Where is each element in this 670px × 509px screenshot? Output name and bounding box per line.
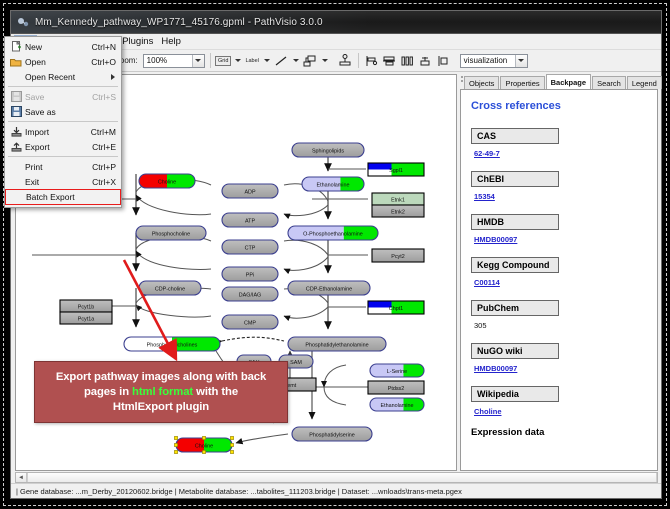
toolbar-separator-2 <box>358 53 359 68</box>
line-dropdown-icon[interactable] <box>292 53 300 68</box>
file-menu-item-save-as[interactable]: Save as <box>5 104 121 119</box>
metabolite-node[interactable]: Ethanolamine <box>302 177 364 191</box>
node-label: PPi <box>246 273 254 279</box>
save-as-icon <box>7 105 25 118</box>
file-menu-item-export[interactable]: ExportCtrl+E <box>5 139 121 154</box>
tab-properties[interactable]: Properties <box>500 76 544 89</box>
xref-value: 305 <box>474 321 657 330</box>
shape-tool-button[interactable] <box>303 53 318 68</box>
callout-line2a: pages in <box>84 386 132 398</box>
metabolite-node[interactable]: L-Serine <box>370 364 424 377</box>
zoom-value: 100% <box>147 56 167 65</box>
xref-group: NuGO wikiHMDB00097 <box>471 341 657 373</box>
node-label: L-Serine <box>387 369 407 375</box>
same-width-button[interactable] <box>418 53 433 68</box>
side-panel: Objects Properties Backpage Search Legen… <box>460 74 658 471</box>
title-bar: Mm_Kennedy_pathway_WP1771_45176.gpml - P… <box>11 11 661 34</box>
label-tool-button[interactable]: Label <box>245 53 260 68</box>
file-menu-label: Export <box>25 142 92 152</box>
metabolite-node[interactable]: ADP <box>222 184 278 198</box>
gene-node[interactable]: Pcyt1a <box>60 312 112 324</box>
xref-link[interactable]: 62-49-7 <box>474 149 500 158</box>
node-label: Phosphocholine <box>152 232 190 238</box>
callout-line3: HtmlExport plugin <box>113 401 209 413</box>
node-label: ATP <box>245 219 255 225</box>
export-icon <box>7 140 25 153</box>
zoom-combo[interactable]: 100% <box>143 54 205 68</box>
file-menu-item-batch-export[interactable]: Batch Export <box>5 189 121 205</box>
chevron-down-icon[interactable] <box>192 55 204 67</box>
xref-source-label: CAS <box>471 128 559 144</box>
xref-group: WikipediaCholine <box>471 384 657 416</box>
file-menu-item-open-recent[interactable]: Open Recent <box>5 69 121 84</box>
xref-source-label: ChEBI <box>471 171 559 187</box>
metabolite-node[interactable]: Sphingolipids <box>292 143 364 157</box>
tab-legend[interactable]: Legend <box>627 76 662 89</box>
node-label: Chpt1 <box>389 306 403 312</box>
scroll-left-button[interactable]: ◄ <box>16 473 27 482</box>
selection-handle[interactable] <box>202 436 205 439</box>
metabolite-node[interactable]: DAG/IAG <box>222 287 278 301</box>
menu-item-icon-none <box>7 70 25 83</box>
xref-value[interactable]: Choline <box>474 407 657 416</box>
tab-objects[interactable]: Objects <box>464 76 499 89</box>
file-menu-label: Print <box>25 162 92 172</box>
file-menu-accelerator: Ctrl+S <box>92 92 121 102</box>
window-title: Mm_Kennedy_pathway_WP1771_45176.gpml - P… <box>35 17 323 28</box>
node-label: Phosphatidylcholines <box>147 343 198 349</box>
metabolite-node[interactable]: CTP <box>222 240 278 254</box>
callout-highlight: html format <box>132 386 193 398</box>
panel-grip-icon[interactable] <box>460 74 464 87</box>
selection-handle[interactable] <box>174 436 177 439</box>
file-menu-accelerator: Ctrl+X <box>92 177 121 187</box>
xref-source-label: HMDB <box>471 214 559 230</box>
xref-source-label: Wikipedia <box>471 386 559 402</box>
gene-node[interactable]: Etnk2 <box>372 205 424 217</box>
gene-node[interactable]: Sgpl1 <box>368 163 424 176</box>
xref-group: CAS62-49-7 <box>471 126 657 158</box>
file-menu-item-open[interactable]: OpenCtrl+O <box>5 54 121 69</box>
file-menu-item-print[interactable]: PrintCtrl+P <box>5 159 121 174</box>
node-label: Choline <box>158 180 176 186</box>
xref-group: HMDBHMDB00097 <box>471 212 657 244</box>
visualization-value: visualization <box>464 56 508 65</box>
node-label: Sphingolipids <box>312 149 344 155</box>
visualization-combo[interactable]: visualization <box>460 54 528 68</box>
file-menu-item-import[interactable]: ImportCtrl+M <box>5 124 121 139</box>
node-label: Pcyt1b <box>78 305 94 311</box>
selection-handle[interactable] <box>202 450 205 453</box>
file-menu-label: New <box>25 42 92 52</box>
file-menu-accelerator: Ctrl+M <box>91 127 121 137</box>
scroll-thumb[interactable] <box>27 473 657 482</box>
xref-value[interactable]: C00114 <box>474 278 657 287</box>
grid-toggle-button[interactable]: Grid <box>216 53 231 68</box>
selection-handle[interactable] <box>230 450 233 453</box>
menu-separator <box>8 86 118 87</box>
menu-separator <box>8 156 118 157</box>
node-label: O-Phosphoethanolamine <box>303 232 363 238</box>
menu-item-icon-none <box>7 175 25 188</box>
metabolite-node[interactable]: PPi <box>222 267 278 281</box>
cross-reference-list: CAS62-49-7ChEBI15354HMDBHMDB00097Kegg Co… <box>471 126 657 416</box>
file-menu-label: Open <box>25 57 91 67</box>
node-label: CDP-choline <box>155 287 185 293</box>
node-label: Choline <box>195 444 213 450</box>
callout-text: Export pathway images along with back pa… <box>56 370 266 415</box>
toolbar-separator <box>210 53 211 68</box>
submenu-arrow-icon <box>111 74 115 80</box>
node-label: SAM <box>290 360 302 366</box>
file-menu-label: Save as <box>25 107 116 117</box>
node-label: Pcyt2 <box>391 254 404 260</box>
menu-item-icon-none <box>7 160 25 173</box>
node-label: Phosphatidylethanolamine <box>305 343 368 349</box>
selection-handle[interactable] <box>174 443 177 446</box>
stack-button[interactable] <box>436 53 451 68</box>
node-label: Ethanolamine <box>381 403 414 409</box>
node-label: ADP <box>244 190 255 196</box>
shape-dropdown-icon[interactable] <box>321 53 329 68</box>
metabolite-node[interactable]: Ethanolamine <box>370 398 424 411</box>
xref-source-label: NuGO wiki <box>471 343 559 359</box>
metabolite-node[interactable]: CDP-choline <box>139 281 201 295</box>
xref-value[interactable]: 15354 <box>474 192 657 201</box>
open-folder-icon <box>7 55 25 68</box>
node-label: Etnk1 <box>391 198 405 204</box>
status-bar: | Gene database: ...m_Derby_20120602.bri… <box>11 483 661 498</box>
menu-help[interactable]: Help <box>157 35 185 49</box>
align-left-button[interactable] <box>364 53 379 68</box>
status-text: | Gene database: ...m_Derby_20120602.bri… <box>16 487 462 496</box>
file-menu-label: Open Recent <box>25 72 111 82</box>
node-label: Phosphatidylserine <box>309 433 355 439</box>
tab-backpage[interactable]: Backpage <box>546 74 591 89</box>
side-panel-tabs[interactable]: Objects Properties Backpage Search Legen… <box>460 74 658 89</box>
selection-handle[interactable] <box>230 443 233 446</box>
menu-separator <box>8 121 118 122</box>
xref-link[interactable]: 15354 <box>474 192 495 201</box>
file-menu-dropdown[interactable]: NewCtrl+NOpenCtrl+OOpen RecentSaveCtrl+S… <box>4 36 122 208</box>
chevron-down-icon-2[interactable] <box>515 55 527 67</box>
canvas-horizontal-scrollbar[interactable]: ◄ <box>15 472 658 483</box>
line-tool-button[interactable] <box>274 53 289 68</box>
xref-group: ChEBI15354 <box>471 169 657 201</box>
align-center-button[interactable] <box>382 53 397 68</box>
xref-link[interactable]: HMDB00097 <box>474 364 517 373</box>
node-label: Pcyt1a <box>78 317 94 323</box>
xref-group: Kegg CompoundC00114 <box>471 255 657 287</box>
node-label: Ptdss2 <box>388 386 404 392</box>
file-menu-accelerator: Ctrl+N <box>92 42 121 52</box>
node-label: Etnk2 <box>391 210 405 216</box>
xref-source-label: PubChem <box>471 300 559 316</box>
metabolite-node[interactable]: Choline <box>174 436 233 453</box>
gene-node[interactable]: Ptdss2 <box>368 381 424 394</box>
xref-link[interactable]: C00114 <box>474 278 500 287</box>
callout-line2b: with the <box>193 386 238 398</box>
file-menu-accelerator: Ctrl+E <box>92 142 121 152</box>
metabolite-node[interactable]: Phosphatidylcholines <box>124 337 220 351</box>
import-icon <box>7 125 25 138</box>
metabolite-node[interactable]: CDP-Ethanolamine <box>288 281 370 295</box>
metabolite-node[interactable]: O-Phosphoethanolamine <box>288 226 378 240</box>
gene-node[interactable]: Chpt1 <box>368 301 424 314</box>
annotation-callout: Export pathway images along with back pa… <box>34 361 288 423</box>
node-label: Sgpl1 <box>389 168 403 174</box>
file-menu-accelerator: Ctrl+O <box>91 57 121 67</box>
file-menu-accelerator: Ctrl+P <box>92 162 121 172</box>
xref-value[interactable]: HMDB00097 <box>474 235 657 244</box>
node-label: CTP <box>245 246 256 252</box>
node-label: Ethanolamine <box>317 183 350 189</box>
xref-group: PubChem305 <box>471 298 657 330</box>
cross-references-title: Cross references <box>471 100 657 112</box>
distribute-button[interactable] <box>400 53 415 68</box>
file-menu-item-exit[interactable]: ExitCtrl+X <box>5 174 121 189</box>
xref-link[interactable]: Choline <box>474 407 502 416</box>
metabolite-node[interactable]: ATP <box>222 213 278 227</box>
save-icon <box>7 90 25 103</box>
file-menu-label: Batch Export <box>26 192 115 202</box>
xref-value[interactable]: 62-49-7 <box>474 149 657 158</box>
metabolite-node[interactable]: Phosphatidylethanolamine <box>288 337 386 351</box>
menu-item-icon-none <box>8 191 26 204</box>
xref-link[interactable]: HMDB00097 <box>474 235 517 244</box>
metabolite-node[interactable]: Phosphocholine <box>136 226 206 240</box>
gene-node[interactable]: Pcyt2 <box>372 249 424 262</box>
file-menu-item-save[interactable]: SaveCtrl+S <box>5 89 121 104</box>
xref-value[interactable]: HMDB00097 <box>474 364 657 373</box>
new-file-icon <box>7 40 25 53</box>
gene-node[interactable]: Pcyt1b <box>60 300 112 312</box>
file-menu-label: Exit <box>25 177 92 187</box>
xref-source-label: Kegg Compound <box>471 257 559 273</box>
file-menu-label: Save <box>25 92 92 102</box>
callout-line1: Export pathway images along with back <box>56 371 266 383</box>
screen-root: Mm_Kennedy_pathway_WP1771_45176.gpml - P… <box>0 0 670 509</box>
file-menu-label: Import <box>25 127 91 137</box>
metabolite-node[interactable]: Phosphatidylserine <box>292 427 372 441</box>
expression-data-title: Expression data <box>471 427 657 438</box>
selection-handle[interactable] <box>174 450 177 453</box>
grid-dropdown-icon[interactable] <box>234 53 242 68</box>
menu-plugins[interactable]: Plugins <box>118 35 157 49</box>
file-menu-item-new[interactable]: NewCtrl+N <box>5 39 121 54</box>
tab-search[interactable]: Search <box>592 76 626 89</box>
gene-node[interactable]: Etnk1 <box>372 193 424 205</box>
backpage-content: Cross references CAS62-49-7ChEBI15354HMD… <box>460 89 658 471</box>
anchor-tool-button[interactable] <box>338 53 353 68</box>
metabolite-node[interactable]: Choline <box>139 174 195 188</box>
node-label: CMP <box>244 321 256 327</box>
metabolite-node[interactable]: CMP <box>222 315 278 329</box>
label-dropdown-icon[interactable] <box>263 53 271 68</box>
selection-handle[interactable] <box>230 436 233 439</box>
pathvisio-app-icon <box>17 16 30 29</box>
node-label: DAG/IAG <box>239 293 261 299</box>
node-label: CDP-Ethanolamine <box>306 287 352 293</box>
